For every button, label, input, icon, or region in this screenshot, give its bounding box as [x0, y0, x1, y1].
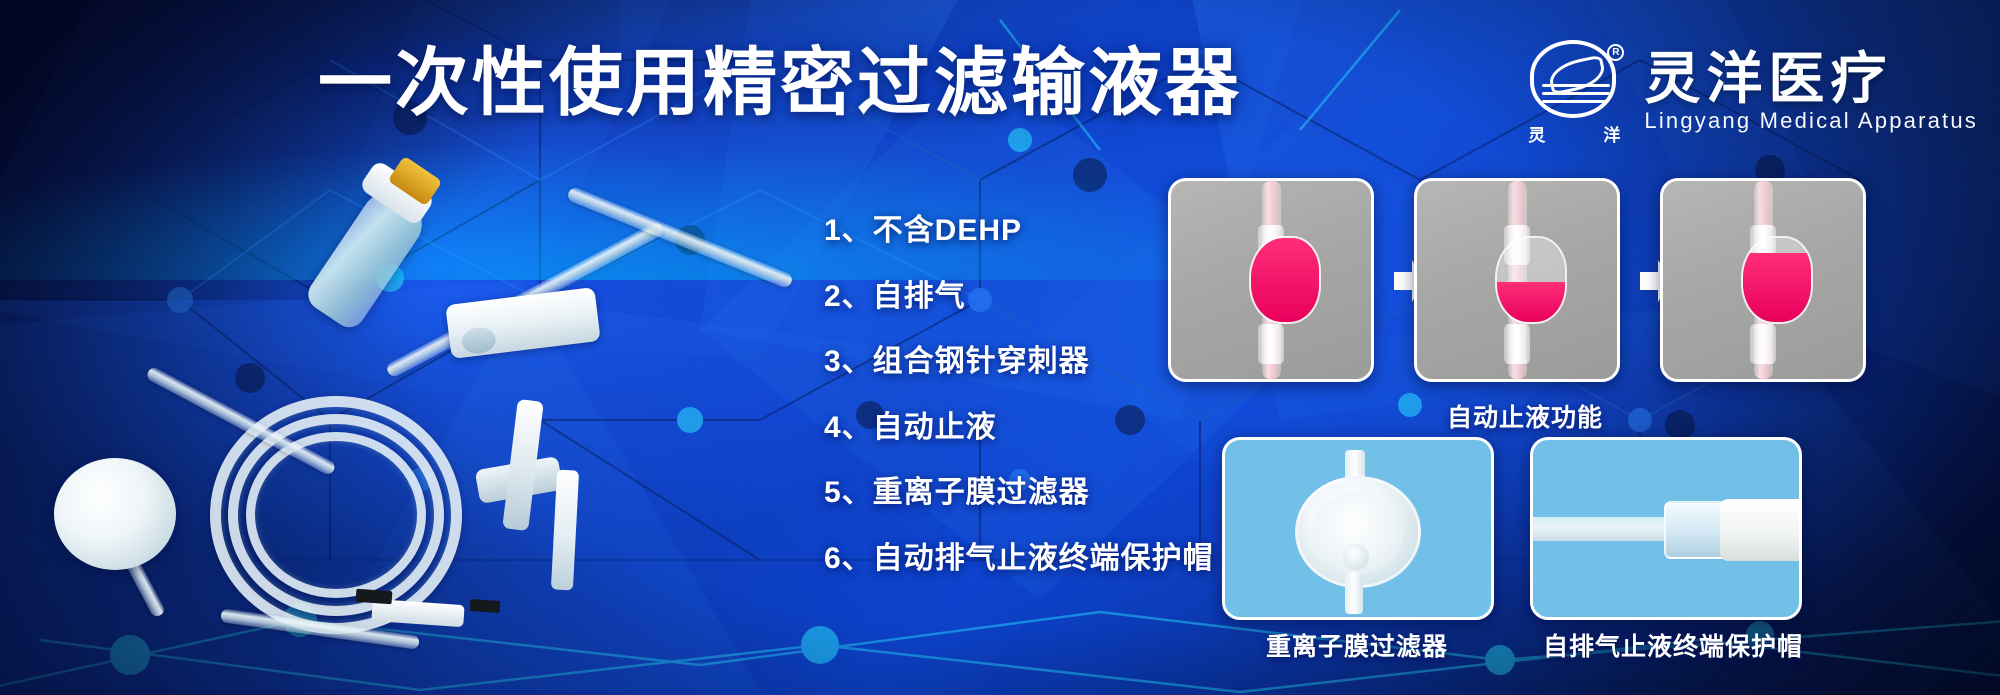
terminal-protective-cap — [1720, 499, 1802, 561]
liquid-fill — [1497, 282, 1565, 322]
filter-photo-card — [1222, 437, 1494, 620]
auto-stop-caption: 自动止液功能 — [1447, 398, 1603, 434]
brand-text-block: 灵洋医疗 Lingyang Medical Apparatus — [1644, 50, 1978, 133]
roller-clamp — [445, 287, 600, 359]
registered-trademark-icon: R — [1607, 44, 1624, 61]
auto-stop-photo-3 — [1660, 178, 1866, 382]
company-logo-icon: R 灵 洋 — [1526, 40, 1622, 144]
hero-product-image — [40, 170, 800, 650]
brand-name-en: Lingyang Medical Apparatus — [1644, 109, 1978, 133]
protective-cap-photo-card — [1530, 437, 1802, 620]
brand-name-cn: 灵洋医疗 — [1644, 50, 1978, 107]
tube-clamp-black-2 — [470, 599, 501, 613]
tube-clamp-black-1 — [356, 589, 393, 604]
membrane-filter-disc — [54, 458, 176, 570]
seal-oval-icon — [1530, 40, 1616, 118]
tubing-coil-inner — [246, 432, 426, 598]
feature-item-2: 2、自排气 — [824, 278, 1214, 316]
protective-cap-photo — [1530, 479, 1802, 579]
brand-lockup: R 灵 洋 灵洋医疗 Lingyang Medical Apparatus — [1526, 40, 1978, 144]
page-title: 一次性使用精密过滤输液器 — [318, 46, 1242, 120]
seal-char-left: 灵 — [1528, 121, 1545, 146]
tubing-segment-right — [566, 186, 794, 290]
seal-char-right: 洋 — [1603, 121, 1620, 146]
liquid-fill — [1251, 238, 1319, 321]
iv-photo-step-1 — [1171, 181, 1371, 379]
membrane-filter-photo — [1283, 444, 1433, 614]
feature-item-5: 5、重离子膜过滤器 — [824, 474, 1214, 512]
feature-item-6: 6、自动排气止液终端保护帽 — [824, 540, 1214, 578]
bulb-shell — [1249, 236, 1321, 323]
feature-list: 1、不含DEHP 2、自排气 3、组合钢针穿刺器 4、自动止液 5、重离子膜过滤… — [824, 212, 1214, 577]
cap-tubing — [1530, 517, 1686, 541]
stop-bulb-1 — [1249, 236, 1321, 323]
auto-stop-photo-2 — [1414, 178, 1620, 382]
protective-cap-card-caption: 自排气止液终端保护帽 — [1543, 627, 1803, 663]
stop-bulb-3 — [1741, 236, 1813, 323]
auto-stop-photo-1 — [1168, 178, 1374, 382]
feature-item-1: 1、不含DEHP — [824, 212, 1214, 250]
iv-connector-bottom — [1750, 324, 1776, 364]
product-banner: 一次性使用精密过滤输液器 R 灵 洋 灵洋医疗 Lingyang Medical… — [0, 0, 2000, 695]
feature-item-3: 3、组合钢针穿刺器 — [824, 343, 1214, 381]
feature-item-4: 4、自动止液 — [824, 409, 1214, 447]
filter-port — [1343, 544, 1369, 570]
iv-connector-bottom — [1258, 324, 1284, 364]
seal-characters: 灵 洋 — [1526, 121, 1622, 146]
stop-bulb-2 — [1495, 236, 1567, 323]
filter-card-caption: 重离子膜过滤器 — [1266, 627, 1448, 663]
luer-lock — [1664, 501, 1728, 559]
iv-photo-step-2 — [1417, 181, 1617, 379]
filter-outlet-nozzle — [1345, 572, 1363, 614]
wave-lines-icon — [1542, 84, 1610, 106]
bulb-shell — [1741, 236, 1813, 323]
liquid-fill — [1743, 253, 1811, 321]
iv-connector-bottom — [1504, 324, 1530, 364]
bulb-shell — [1495, 236, 1567, 323]
iv-photo-step-3 — [1663, 181, 1863, 379]
